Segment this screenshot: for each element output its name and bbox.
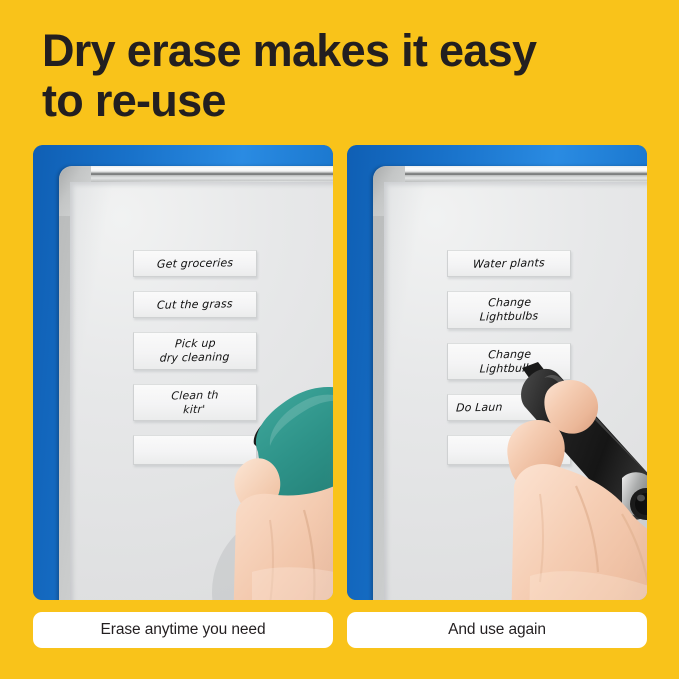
erase-panel: Get groceries Cut the grass Pick up dry …: [33, 145, 333, 600]
eraser[interactable]: [256, 387, 333, 503]
list-item[interactable]: Change Lightbulbs: [447, 343, 571, 381]
hand-back: [510, 464, 647, 600]
note-list: Water plants Change Lightbulbs Change Li…: [447, 250, 571, 479]
note-text: Do Laun: [456, 400, 503, 415]
list-item[interactable]: Water plants: [447, 250, 571, 277]
caption-erase: Erase anytime you need: [33, 612, 333, 648]
list-item[interactable]: Pick up dry cleaning: [133, 332, 257, 370]
finger-line: [304, 510, 315, 600]
whiteboard-surface: Get groceries Cut the grass Pick up dry …: [70, 182, 333, 600]
caption-label: And use again: [448, 621, 546, 639]
finger-line: [576, 486, 598, 572]
finger-line: [540, 494, 543, 582]
eraser-highlight: [270, 395, 333, 446]
caption-label: Erase anytime you need: [101, 621, 266, 639]
list-item-empty[interactable]: [447, 435, 571, 465]
note-text: Clean th kitr': [171, 388, 220, 416]
list-item[interactable]: Change Lightbulbs: [447, 291, 571, 329]
list-item[interactable]: Get groceries: [133, 250, 257, 277]
aluminium-rail-icon: [389, 166, 647, 181]
note-text: Get groceries: [157, 256, 234, 271]
caption-reuse: And use again: [347, 612, 647, 648]
aluminium-rail-icon: [75, 166, 333, 181]
hand-shadow: [212, 506, 333, 600]
marker-ring: [622, 472, 647, 516]
finger-line: [270, 520, 273, 600]
wrist-highlight: [252, 567, 333, 600]
note-text: Pick up dry cleaning: [159, 336, 230, 365]
note-text: Water plants: [473, 256, 545, 271]
note-text: Cut the grass: [157, 297, 233, 312]
finger-line: [622, 514, 647, 596]
eraser-edge: [254, 398, 308, 450]
whiteboard-frame: Water plants Change Lightbulbs Change Li…: [373, 166, 647, 600]
note-text: Change Lightbulbs: [479, 347, 539, 376]
list-item-empty[interactable]: [133, 435, 257, 465]
list-item[interactable]: Cut the grass: [133, 291, 257, 318]
whiteboard-surface: Water plants Change Lightbulbs Change Li…: [384, 182, 647, 600]
hand-back: [232, 471, 333, 600]
reuse-panel: Water plants Change Lightbulbs Change Li…: [347, 145, 647, 600]
list-item-partially-erased[interactable]: Clean th kitr': [133, 384, 257, 422]
page-title: Dry erase makes it easy to re-use: [42, 26, 642, 127]
note-text: Change Lightbulbs: [479, 295, 539, 324]
whiteboard-frame: Get groceries Cut the grass Pick up dry …: [59, 166, 333, 600]
marker-end-hole: [635, 493, 647, 515]
list-item-being-written[interactable]: Do Laun: [447, 394, 571, 421]
wrist-highlight: [528, 571, 647, 600]
marker-end-cap: [630, 488, 647, 520]
panel-row: Get groceries Cut the grass Pick up dry …: [33, 145, 647, 600]
marker-end-glint: [637, 495, 645, 502]
note-list: Get groceries Cut the grass Pick up dry …: [133, 250, 257, 479]
caption-row: Erase anytime you need And use again: [33, 612, 647, 648]
hand-shadow: [518, 512, 647, 600]
